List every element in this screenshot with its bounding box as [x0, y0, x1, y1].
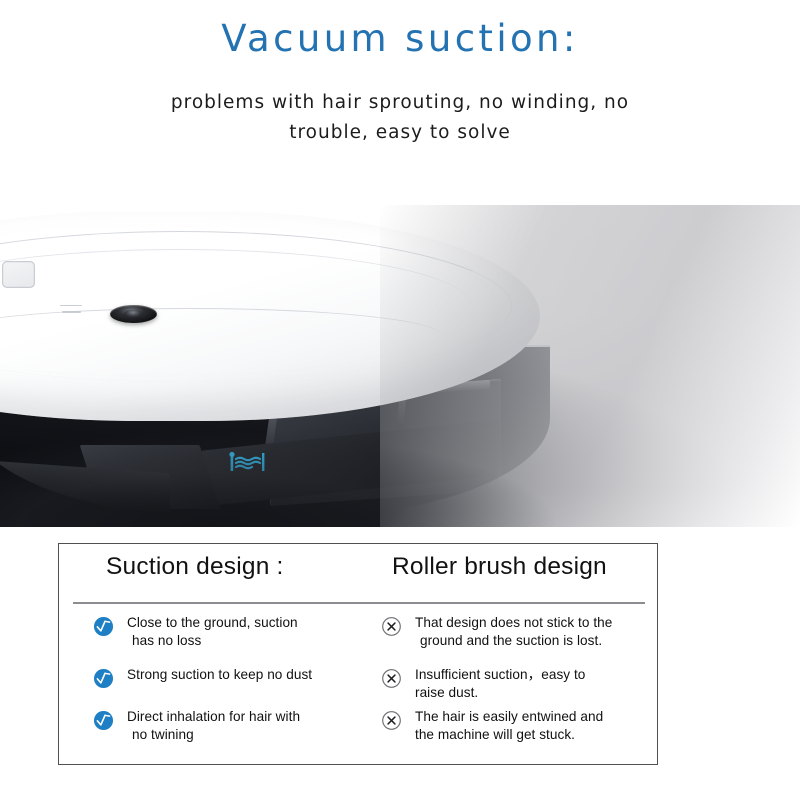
photo-floor-shadow: [0, 407, 680, 527]
comparison-rows: Close to the ground, suction has no loss…: [59, 612, 657, 764]
header-divider: [73, 602, 645, 604]
subtitle-line-1: problems with hair sprouting, no winding…: [171, 92, 629, 113]
list-item-line-1: The hair is easily entwined and: [415, 709, 603, 724]
list-item-line-2: no twining: [127, 726, 347, 744]
list-item-line-2: raise dust.: [415, 684, 643, 702]
check-icon: [93, 710, 114, 731]
comparison-column-suction: Close to the ground, suction has no loss…: [93, 612, 383, 764]
list-item: Direct inhalation for hair with no twini…: [93, 708, 347, 744]
indicator-lights-icon: [60, 305, 84, 319]
page-subtitle: problems with hair sprouting, no winding…: [100, 61, 700, 149]
page-title: Vacuum suction:: [0, 18, 800, 61]
subtitle-line-2: trouble, easy to solve: [289, 122, 511, 143]
list-item-line-2: ground and the suction is lost.: [415, 632, 643, 650]
list-item: Insufficient suction，easy to raise dust.: [381, 666, 643, 702]
list-item-line-1: Close to the ground, suction: [127, 615, 298, 630]
list-item-text: That design does not stick to the ground…: [415, 614, 643, 650]
check-icon: [93, 668, 114, 689]
cross-icon: [381, 668, 402, 689]
bumper-slot: [2, 261, 35, 288]
cross-icon: [381, 616, 402, 637]
list-item: Strong suction to keep no dust: [93, 666, 347, 689]
list-item: That design does not stick to the ground…: [381, 614, 643, 650]
page-header: Vacuum suction: problems with hair sprou…: [0, 0, 800, 149]
list-item-line-1: That design does not stick to the: [415, 615, 612, 630]
comparison-table: Suction design : Roller brush design Clo…: [58, 543, 658, 765]
column-header-roller-brush-design: Roller brush design: [392, 553, 607, 581]
list-item-text: Strong suction to keep no dust: [127, 666, 347, 684]
list-item: Close to the ground, suction has no loss: [93, 614, 347, 650]
list-item-text: Direct inhalation for hair with no twini…: [127, 708, 347, 744]
list-item-line-2: the machine will get stuck.: [415, 726, 643, 744]
list-item: The hair is easily entwined and the mach…: [381, 708, 643, 744]
list-item-line-1: Strong suction to keep no dust: [127, 667, 312, 682]
list-item-line-1: Insufficient suction，easy to: [415, 667, 585, 682]
list-item-text: Close to the ground, suction has no loss: [127, 614, 347, 650]
list-item-line-1: Direct inhalation for hair with: [127, 709, 300, 724]
list-item-line-2: has no loss: [127, 632, 347, 650]
list-item-text: The hair is easily entwined and the mach…: [415, 708, 643, 744]
list-item-text: Insufficient suction，easy to raise dust.: [415, 666, 643, 702]
comparison-column-roller-brush: That design does not stick to the ground…: [381, 612, 653, 764]
cross-icon: [381, 710, 402, 731]
comparison-headers: Suction design : Roller brush design: [59, 544, 657, 596]
column-header-suction-design: Suction design :: [106, 553, 284, 581]
product-photo: [0, 205, 800, 527]
power-button: [110, 305, 157, 323]
check-icon: [93, 616, 114, 637]
